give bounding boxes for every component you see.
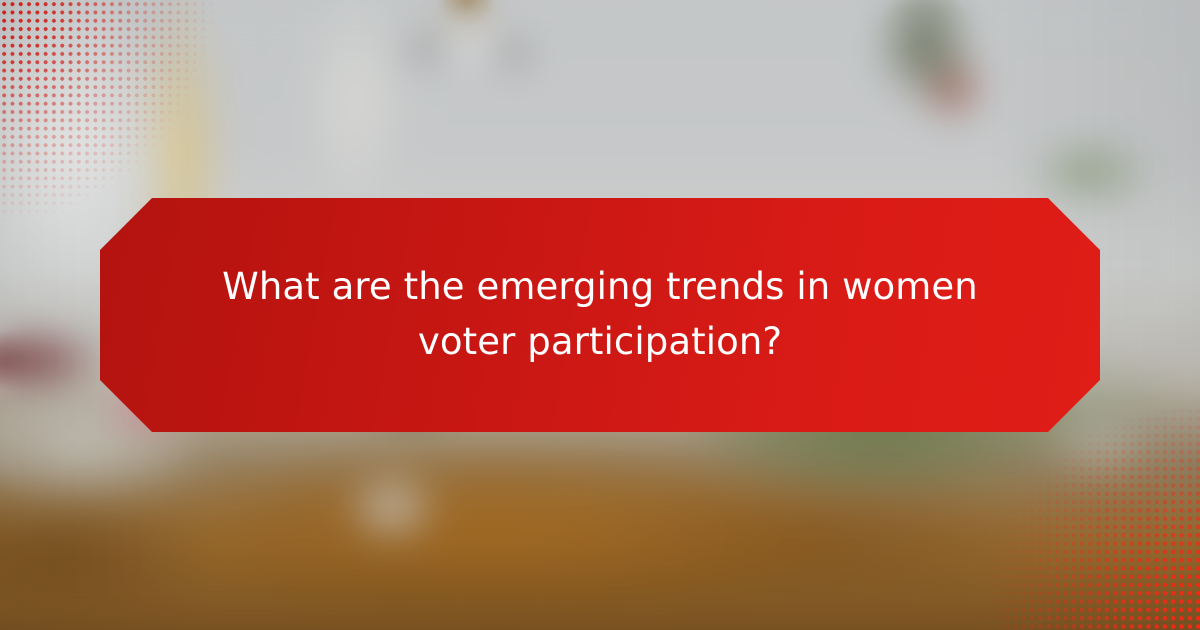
social-card: What are the emerging trends in women vo…	[0, 0, 1200, 630]
page-title: What are the emerging trends in women vo…	[170, 260, 1030, 370]
headline-banner: What are the emerging trends in women vo…	[100, 198, 1100, 432]
